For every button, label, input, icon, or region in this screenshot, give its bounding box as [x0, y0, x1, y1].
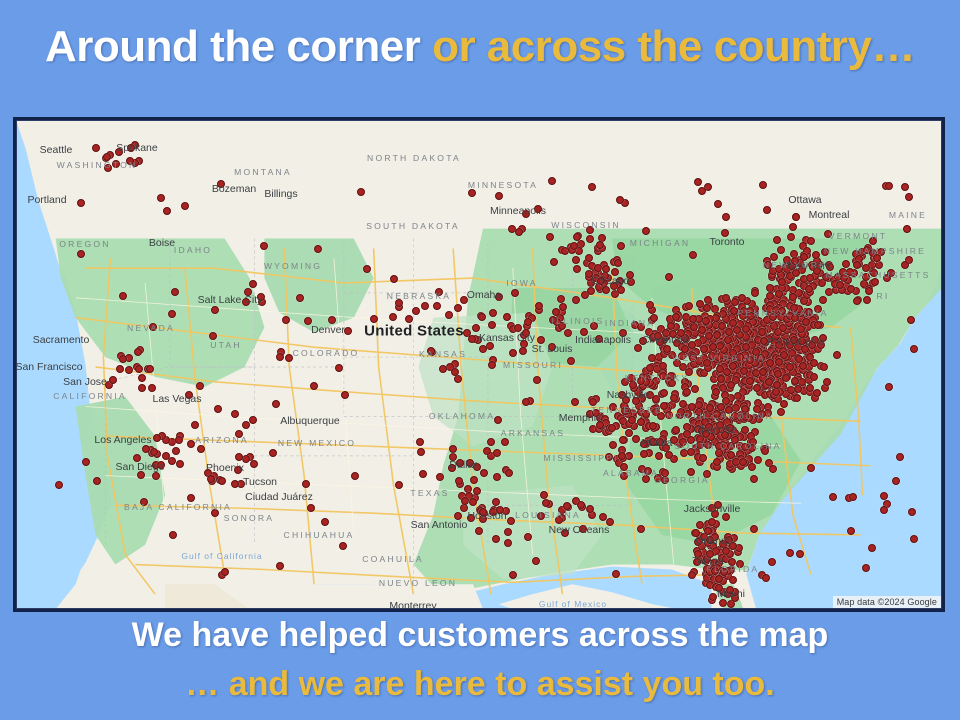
- customer-marker: [777, 408, 785, 416]
- customer-marker: [713, 458, 721, 466]
- customer-marker: [729, 542, 737, 550]
- customer-marker: [791, 257, 799, 265]
- customer-marker: [276, 353, 284, 361]
- customer-marker: [786, 549, 794, 557]
- customer-marker: [705, 332, 713, 340]
- customer-marker: [769, 465, 777, 473]
- customer-marker: [449, 445, 457, 453]
- customer-marker: [628, 416, 636, 424]
- customer-marker: [679, 438, 687, 446]
- customer-marker: [115, 148, 123, 156]
- customer-marker: [822, 273, 830, 281]
- customer-marker: [683, 388, 691, 396]
- customer-marker: [786, 363, 794, 371]
- customer-marker: [537, 512, 545, 520]
- customer-marker: [715, 449, 723, 457]
- page-title: Around the corner or across the country…: [0, 24, 960, 70]
- customer-marker: [774, 370, 782, 378]
- customer-marker: [483, 447, 491, 455]
- customer-marker: [616, 196, 624, 204]
- customer-marker: [390, 275, 398, 283]
- customer-marker: [677, 408, 685, 416]
- customer-marker: [810, 359, 818, 367]
- customer-marker: [763, 206, 771, 214]
- customer-marker: [695, 408, 703, 416]
- customer-marker: [479, 508, 487, 516]
- customer-marker: [473, 487, 481, 495]
- customer-marker: [711, 567, 719, 575]
- customer-marker: [727, 381, 735, 389]
- customer-marker: [335, 364, 343, 372]
- customer-marker: [792, 213, 800, 221]
- customer-marker: [713, 410, 721, 418]
- customer-marker: [577, 501, 585, 509]
- customer-marker: [691, 385, 699, 393]
- customer-marker: [548, 177, 556, 185]
- customer-marker: [639, 337, 647, 345]
- customer-marker: [405, 315, 413, 323]
- customer-marker: [133, 454, 141, 462]
- customer-marker: [885, 383, 893, 391]
- customer-marker: [260, 242, 268, 250]
- customer-marker: [221, 568, 229, 576]
- customer-marker: [564, 329, 572, 337]
- customer-marker: [719, 599, 727, 607]
- customer-marker: [738, 294, 746, 302]
- customer-marker: [548, 343, 556, 351]
- customer-marker: [519, 347, 527, 355]
- customer-marker: [868, 544, 876, 552]
- customer-marker: [488, 321, 496, 329]
- customer-marker: [549, 316, 557, 324]
- customer-marker: [211, 306, 219, 314]
- customer-marker: [791, 314, 799, 322]
- customer-marker: [665, 451, 673, 459]
- customer-marker: [522, 210, 530, 218]
- customer-marker: [492, 535, 500, 543]
- customer-marker: [709, 343, 717, 351]
- customer-marker: [606, 518, 614, 526]
- customer-marker: [515, 228, 523, 236]
- customer-marker: [833, 351, 841, 359]
- customer-marker: [696, 441, 704, 449]
- customer-marker: [722, 294, 730, 302]
- customer-marker: [602, 265, 610, 273]
- customer-marker: [567, 357, 575, 365]
- customer-marker: [496, 506, 504, 514]
- customer-marker: [862, 564, 870, 572]
- customer-marker: [242, 298, 250, 306]
- customer-marker: [718, 322, 726, 330]
- customer-marker: [901, 183, 909, 191]
- customer-marker: [801, 345, 809, 353]
- customer-marker: [157, 461, 165, 469]
- map-container[interactable]: United StatesSeattlePortlandSacramentoSa…: [13, 117, 945, 612]
- customer-marker: [806, 274, 814, 282]
- customer-marker: [754, 456, 762, 464]
- customer-marker: [522, 398, 530, 406]
- customer-marker: [460, 504, 468, 512]
- customer-marker: [234, 466, 242, 474]
- customer-marker: [792, 269, 800, 277]
- customer-marker: [214, 405, 222, 413]
- customer-marker: [395, 481, 403, 489]
- customer-marker: [138, 374, 146, 382]
- customer-marker: [478, 313, 486, 321]
- customer-marker: [218, 477, 226, 485]
- customer-marker: [469, 498, 477, 506]
- customer-marker: [272, 400, 280, 408]
- customer-marker: [699, 454, 707, 462]
- customer-marker: [885, 182, 893, 190]
- customer-marker: [772, 388, 780, 396]
- customer-marker: [778, 307, 786, 315]
- customer-marker: [552, 308, 560, 316]
- customer-marker: [620, 472, 628, 480]
- customer-marker: [93, 477, 101, 485]
- customer-marker: [468, 189, 476, 197]
- customer-marker: [862, 273, 870, 281]
- customer-marker: [637, 323, 645, 331]
- customer-marker: [492, 498, 500, 506]
- customer-marker: [713, 331, 721, 339]
- customer-marker: [104, 164, 112, 172]
- customer-marker: [800, 253, 808, 261]
- customer-marker: [609, 441, 617, 449]
- customer-marker: [793, 394, 801, 402]
- customer-marker: [805, 308, 813, 316]
- customer-marker: [570, 242, 578, 250]
- customer-marker: [703, 470, 711, 478]
- footer-line-2: … and we are here to assist you too.: [0, 663, 960, 706]
- footer-text-block: We have helped customers across the map …: [0, 614, 960, 705]
- customer-marker: [820, 363, 828, 371]
- customer-marker: [693, 558, 701, 566]
- customer-marker: [846, 268, 854, 276]
- customer-marker: [782, 374, 790, 382]
- customer-marker: [125, 366, 133, 374]
- customer-marker: [759, 181, 767, 189]
- customer-marker: [596, 241, 604, 249]
- customer-marker: [802, 318, 810, 326]
- customer-marker: [314, 245, 322, 253]
- customer-marker: [736, 353, 744, 361]
- customer-marker: [766, 284, 774, 292]
- customer-marker: [766, 292, 774, 300]
- customer-marker: [92, 144, 100, 152]
- customer-marker: [813, 389, 821, 397]
- customer-marker: [871, 278, 879, 286]
- customer-marker: [138, 384, 146, 392]
- customer-marker: [285, 354, 293, 362]
- customer-marker: [419, 470, 427, 478]
- customer-marker: [321, 518, 329, 526]
- customer-marker: [819, 334, 827, 342]
- customer-marker: [467, 514, 475, 522]
- customer-marker: [757, 354, 765, 362]
- customer-marker: [427, 347, 435, 355]
- customer-marker: [257, 293, 265, 301]
- customer-marker: [235, 453, 243, 461]
- customer-marker: [507, 517, 515, 525]
- customer-marker: [791, 377, 799, 385]
- customer-marker: [103, 153, 111, 161]
- customer-marker: [758, 410, 766, 418]
- customer-marker: [605, 453, 613, 461]
- customer-marker: [587, 287, 595, 295]
- customer-marker: [849, 493, 857, 501]
- customer-marker: [244, 288, 252, 296]
- customer-marker: [821, 248, 829, 256]
- customer-marker: [135, 365, 143, 373]
- customer-marker: [775, 290, 783, 298]
- customer-marker: [748, 463, 756, 471]
- customer-marker: [696, 521, 704, 529]
- customer-marker: [704, 296, 712, 304]
- customer-marker: [892, 477, 900, 485]
- customer-marker: [687, 436, 695, 444]
- customer-marker: [753, 384, 761, 392]
- customer-marker: [169, 531, 177, 539]
- customer-marker: [511, 289, 519, 297]
- map-canvas[interactable]: United StatesSeattlePortlandSacramentoSa…: [16, 120, 942, 609]
- customer-marker: [667, 322, 675, 330]
- customer-marker: [721, 431, 729, 439]
- customer-marker: [460, 296, 468, 304]
- customer-marker: [905, 193, 913, 201]
- customer-marker: [572, 256, 580, 264]
- customer-marker: [276, 562, 284, 570]
- customer-marker: [207, 475, 215, 483]
- customer-marker: [588, 183, 596, 191]
- customer-marker: [688, 403, 696, 411]
- customer-marker: [231, 480, 239, 488]
- customer-marker: [673, 339, 681, 347]
- customer-marker: [479, 345, 487, 353]
- customer-marker: [751, 289, 759, 297]
- customer-marker: [656, 438, 664, 446]
- customer-marker: [908, 508, 916, 516]
- customer-marker: [494, 416, 502, 424]
- customer-marker: [250, 460, 258, 468]
- customer-marker: [310, 382, 318, 390]
- customer-marker: [640, 450, 648, 458]
- customer-marker: [750, 475, 758, 483]
- customer-marker: [55, 481, 63, 489]
- customer-marker: [910, 345, 918, 353]
- customer-marker: [445, 311, 453, 319]
- customer-marker: [778, 278, 786, 286]
- customer-marker: [586, 235, 594, 243]
- customer-marker: [777, 246, 785, 254]
- customer-marker: [790, 304, 798, 312]
- customer-marker: [176, 460, 184, 468]
- customer-marker: [714, 501, 722, 509]
- customer-marker: [493, 449, 501, 457]
- customer-marker: [540, 491, 548, 499]
- customer-marker: [119, 292, 127, 300]
- customer-marker: [436, 473, 444, 481]
- customer-marker: [684, 410, 692, 418]
- customer-marker: [789, 293, 797, 301]
- customer-marker: [896, 453, 904, 461]
- customer-marker: [731, 412, 739, 420]
- customer-marker: [847, 527, 855, 535]
- customer-marker: [563, 502, 571, 510]
- customer-marker: [524, 318, 532, 326]
- customer-marker: [646, 364, 654, 372]
- customer-marker: [808, 341, 816, 349]
- customer-marker: [726, 586, 734, 594]
- customer-marker: [766, 359, 774, 367]
- customer-marker: [642, 475, 650, 483]
- customer-marker: [807, 237, 815, 245]
- customer-marker: [363, 265, 371, 273]
- customer-marker: [172, 447, 180, 455]
- customer-marker: [572, 296, 580, 304]
- customer-marker: [880, 506, 888, 514]
- customer-marker: [395, 299, 403, 307]
- customer-marker: [794, 385, 802, 393]
- customer-marker: [760, 337, 768, 345]
- customer-marker: [302, 480, 310, 488]
- customer-marker: [665, 411, 673, 419]
- customer-marker: [449, 453, 457, 461]
- customer-marker: [642, 227, 650, 235]
- customer-marker: [456, 459, 464, 467]
- customer-marker: [596, 421, 604, 429]
- customer-marker: [672, 313, 680, 321]
- customer-marker: [501, 438, 509, 446]
- customer-marker: [663, 345, 671, 353]
- customer-marker: [748, 444, 756, 452]
- customer-marker: [847, 285, 855, 293]
- customer-marker: [617, 242, 625, 250]
- customer-marker: [488, 361, 496, 369]
- customer-marker: [304, 317, 312, 325]
- customer-marker: [439, 365, 447, 373]
- customer-marker: [249, 416, 257, 424]
- customer-marker: [609, 403, 617, 411]
- customer-marker: [454, 375, 462, 383]
- customer-marker: [597, 277, 605, 285]
- customer-marker: [282, 316, 290, 324]
- customer-marker: [448, 464, 456, 472]
- customer-marker: [668, 379, 676, 387]
- customer-marker: [690, 323, 698, 331]
- customer-marker: [140, 498, 148, 506]
- customer-marker: [655, 452, 663, 460]
- customer-marker: [709, 593, 717, 601]
- customer-marker: [580, 328, 588, 336]
- customer-marker: [708, 518, 716, 526]
- customer-marker: [870, 269, 878, 277]
- customer-marker: [700, 345, 708, 353]
- customer-marker: [503, 313, 511, 321]
- customer-marker: [116, 365, 124, 373]
- customer-marker: [509, 571, 517, 579]
- customer-marker: [688, 341, 696, 349]
- customer-marker: [112, 160, 120, 168]
- customer-marker: [573, 265, 581, 273]
- customer-marker: [823, 378, 831, 386]
- customer-marker: [542, 499, 550, 507]
- customer-marker: [880, 492, 888, 500]
- customer-marker: [711, 510, 719, 518]
- customer-marker: [585, 270, 593, 278]
- customer-marker: [454, 512, 462, 520]
- customer-marker: [620, 463, 628, 471]
- customer-marker: [524, 533, 532, 541]
- customer-marker: [619, 329, 627, 337]
- customer-marker: [722, 513, 730, 521]
- customer-marker: [480, 469, 488, 477]
- customer-marker: [296, 294, 304, 302]
- customer-marker: [217, 180, 225, 188]
- customer-marker: [659, 362, 667, 370]
- customer-marker: [725, 328, 733, 336]
- customer-marker: [649, 422, 657, 430]
- customer-marker: [618, 452, 626, 460]
- customer-marker: [730, 307, 738, 315]
- customer-marker: [787, 233, 795, 241]
- customer-marker: [185, 391, 193, 399]
- customer-marker: [796, 550, 804, 558]
- customer-marker: [903, 225, 911, 233]
- customer-marker: [495, 192, 503, 200]
- customer-marker: [142, 445, 150, 453]
- customer-marker: [703, 304, 711, 312]
- customer-marker: [739, 458, 747, 466]
- customer-marker: [637, 377, 645, 385]
- customer-marker: [451, 368, 459, 376]
- customer-marker: [883, 274, 891, 282]
- customer-marker: [602, 286, 610, 294]
- customer-marker: [736, 560, 744, 568]
- customer-marker: [654, 332, 662, 340]
- customer-marker: [586, 226, 594, 234]
- customer-marker: [678, 352, 686, 360]
- customer-marker: [119, 355, 127, 363]
- customer-marker: [670, 436, 678, 444]
- customer-marker: [486, 342, 494, 350]
- customer-marker: [493, 473, 501, 481]
- customer-marker: [532, 557, 540, 565]
- customer-marker: [137, 471, 145, 479]
- customer-marker: [810, 373, 818, 381]
- customer-marker: [829, 493, 837, 501]
- customer-marker: [722, 547, 730, 555]
- customer-marker: [634, 344, 642, 352]
- customer-marker: [269, 449, 277, 457]
- customer-marker: [910, 535, 918, 543]
- customer-marker: [619, 436, 627, 444]
- customer-marker: [716, 421, 724, 429]
- customer-marker: [812, 251, 820, 259]
- customer-marker: [626, 271, 634, 279]
- customer-marker: [611, 268, 619, 276]
- customer-marker: [836, 281, 844, 289]
- customer-marker: [162, 452, 170, 460]
- customer-marker: [717, 375, 725, 383]
- customer-marker: [665, 273, 673, 281]
- customer-marker: [632, 397, 640, 405]
- customer-marker: [475, 527, 483, 535]
- customer-marker: [648, 354, 656, 362]
- customer-marker: [187, 440, 195, 448]
- customer-marker: [702, 430, 710, 438]
- customer-marker: [759, 368, 767, 376]
